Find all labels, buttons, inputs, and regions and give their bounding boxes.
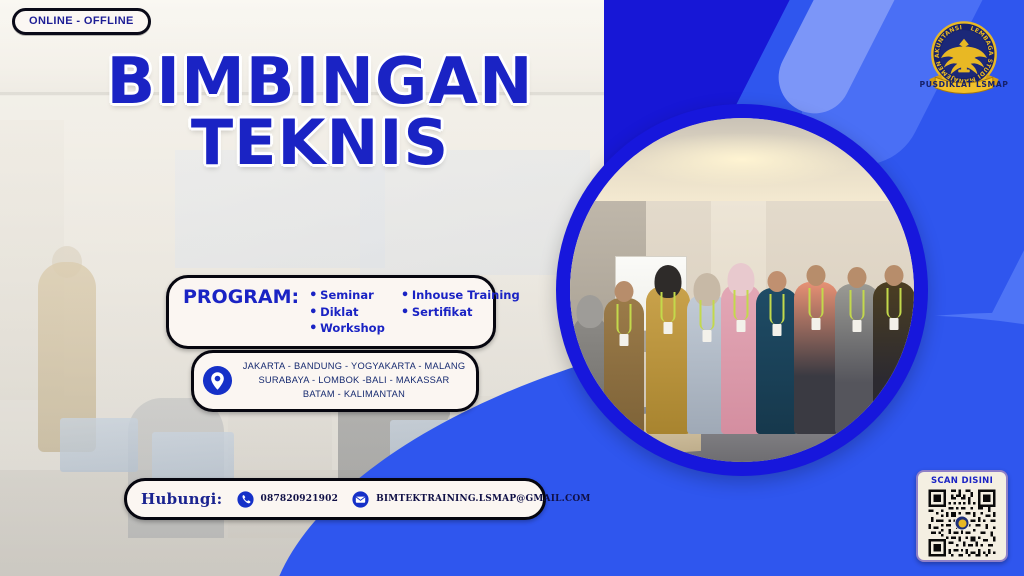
contact-box: Hubungi: 087820921902 BIMTEKTRAINING.LSM… xyxy=(124,478,546,520)
qr-center-logo xyxy=(955,516,970,531)
online-offline-badge: ONLINE - OFFLINE xyxy=(12,8,151,35)
phone-contact[interactable]: 087820921902 xyxy=(237,491,339,508)
title-line-1: BIMBINGAN xyxy=(0,52,640,113)
pusdiklat-lsmap-logo: LEMBAGA STUDI MANAJEMEN AKUNTANSI DAN PE… xyxy=(916,10,1012,106)
program-item: Inhouse Training xyxy=(401,288,520,304)
title-line-2: TEKNIS xyxy=(0,113,640,173)
location-line: JAKARTA - BANDUNG - YOGYAKARTA - MALANG xyxy=(242,360,466,374)
qr-scan-card[interactable]: SCAN DISINI xyxy=(916,470,1008,562)
program-item: Sertifikat xyxy=(401,305,520,321)
promotional-poster: ONLINE - OFFLINE BIMBINGAN TEKNIS xyxy=(0,0,1024,576)
program-box: PROGRAM: Seminar Diklat Workshop Inhouse… xyxy=(166,275,496,349)
phone-icon xyxy=(237,491,254,508)
location-line: BATAM - KALIMANTAN xyxy=(242,388,466,402)
page-title: BIMBINGAN TEKNIS xyxy=(0,52,640,173)
svg-text:PUSDIKLAT LSMAP: PUSDIKLAT LSMAP xyxy=(920,80,1009,89)
email-icon xyxy=(352,491,369,508)
person xyxy=(756,288,798,434)
contact-label: Hubungi: xyxy=(141,490,223,508)
phone-number: 087820921902 xyxy=(261,494,339,504)
person xyxy=(604,298,644,434)
program-label: PROGRAM: xyxy=(183,287,299,308)
qr-title: SCAN DISINI xyxy=(931,475,993,487)
program-item: Workshop xyxy=(309,321,385,337)
program-column-2: Inhouse Training Sertifikat xyxy=(401,288,520,337)
qr-code[interactable] xyxy=(924,487,1000,559)
program-item: Seminar xyxy=(309,288,385,304)
program-item: Diklat xyxy=(309,305,385,321)
person xyxy=(573,316,607,434)
program-column-1: Seminar Diklat Workshop xyxy=(309,288,385,337)
email-contact[interactable]: BIMTEKTRAINING.LSMAP@GMAIL.COM xyxy=(352,491,591,508)
person xyxy=(794,282,838,434)
locations-box: JAKARTA - BANDUNG - YOGYAKARTA - MALANG … xyxy=(191,350,479,412)
person xyxy=(873,282,914,434)
email-address: BIMTEKTRAINING.LSMAP@GMAIL.COM xyxy=(376,494,591,504)
person xyxy=(646,286,690,434)
location-pin-icon xyxy=(202,365,233,396)
location-line: SURABAYA - LOMBOK -BALI - MAKASSAR xyxy=(242,374,466,388)
